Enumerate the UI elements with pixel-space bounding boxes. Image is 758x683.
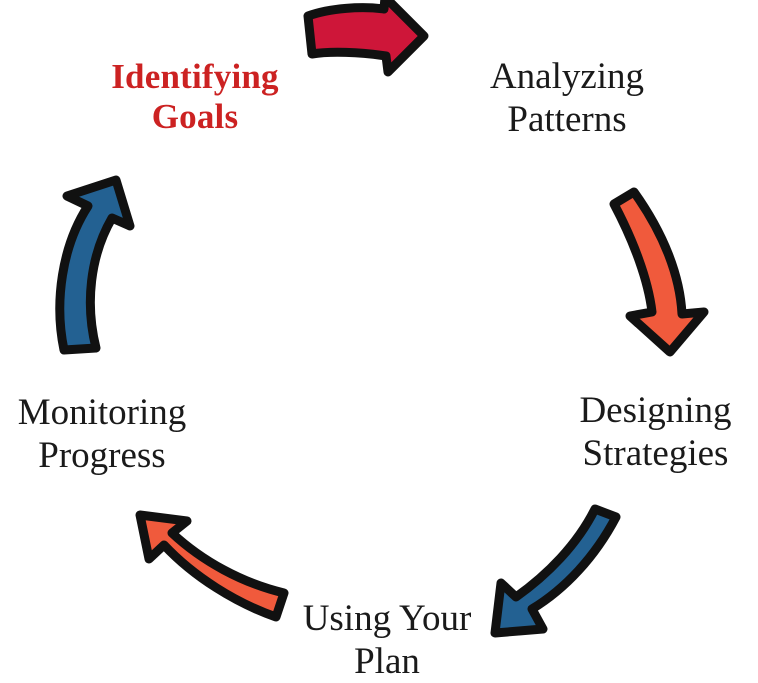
stage-label-identifying-goals: Identifying Goals — [60, 57, 330, 138]
curved-arrow-down-icon — [608, 180, 728, 360]
stage-label-analyzing-patterns: Analyzing Patterns — [437, 56, 697, 141]
stage-label-designing-strategies: Designing Strategies — [548, 390, 758, 475]
cycle-diagram: Identifying Goals Analyzing Patterns Des… — [0, 0, 758, 682]
curved-arrow-up-icon — [38, 172, 153, 362]
stage-label-monitoring-progress: Monitoring Progress — [0, 392, 212, 477]
stage-label-using-your-plan: Using Your Plan — [272, 598, 502, 683]
curved-arrow-down-left-icon — [485, 505, 635, 655]
curved-arrow-up-left-icon — [118, 505, 293, 630]
